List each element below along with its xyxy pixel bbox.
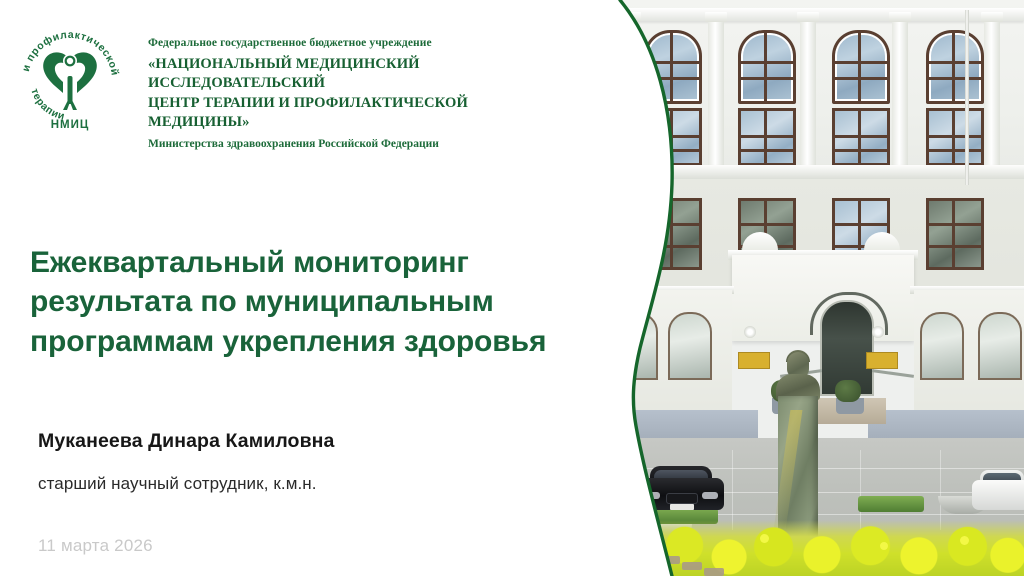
arched-window [832,30,890,104]
window [832,108,890,166]
org-line-1: Федеральное государственное бюджетное уч… [148,36,548,52]
slide-date: 11 марта 2026 [38,536,338,556]
svg-text:и профилактической медицины: и профилактической медицины [14,24,121,80]
wing-window [978,312,1022,380]
window [926,108,984,166]
lawn-patch [858,496,924,512]
entrance-plaque [738,352,770,369]
nmic-emblem-logo: и профилактической медицины терапии НМИЦ [14,24,126,136]
page-title: Ежеквартальный мониторинг результата по … [30,243,590,361]
drainpipe [965,10,969,185]
arched-window [738,30,796,104]
author-position: старший научный сотрудник, к.м.н. [38,474,558,494]
rosette-ornament [872,326,884,338]
title-line-3: программам укрепления здоровья [30,322,590,361]
rosette-ornament [744,326,756,338]
window [738,108,796,166]
svg-text:НМИЦ: НМИЦ [51,119,90,131]
title-slide: и профилактической медицины терапии НМИЦ… [0,0,1024,576]
white-car [972,470,1024,514]
wing-window [920,312,964,380]
organization-name: Федеральное государственное бюджетное уч… [148,36,548,152]
window [926,198,984,270]
org-line-4: Министерства здравоохранения Российской … [148,137,548,153]
title-line-1: Ежеквартальный мониторинг [30,243,590,282]
org-line-2: «НАЦИОНАЛЬНЫЙ МЕДИЦИНСКИЙ ИССЛЕДОВАТЕЛЬС… [148,55,548,94]
shrub [835,380,861,402]
entrance-plaque [866,352,898,369]
author-name: Муканеева Динара Камиловна [38,430,558,453]
svg-text:терапии: терапии [28,87,66,123]
org-line-3: ЦЕНТР ТЕРАПИИ И ПРОФИЛАКТИЧЕСКОЙ МЕДИЦИН… [148,94,548,133]
slide-header: и профилактической медицины терапии НМИЦ… [0,0,620,150]
arched-window [926,30,984,104]
title-line-2: результата по муниципальным [30,282,590,321]
